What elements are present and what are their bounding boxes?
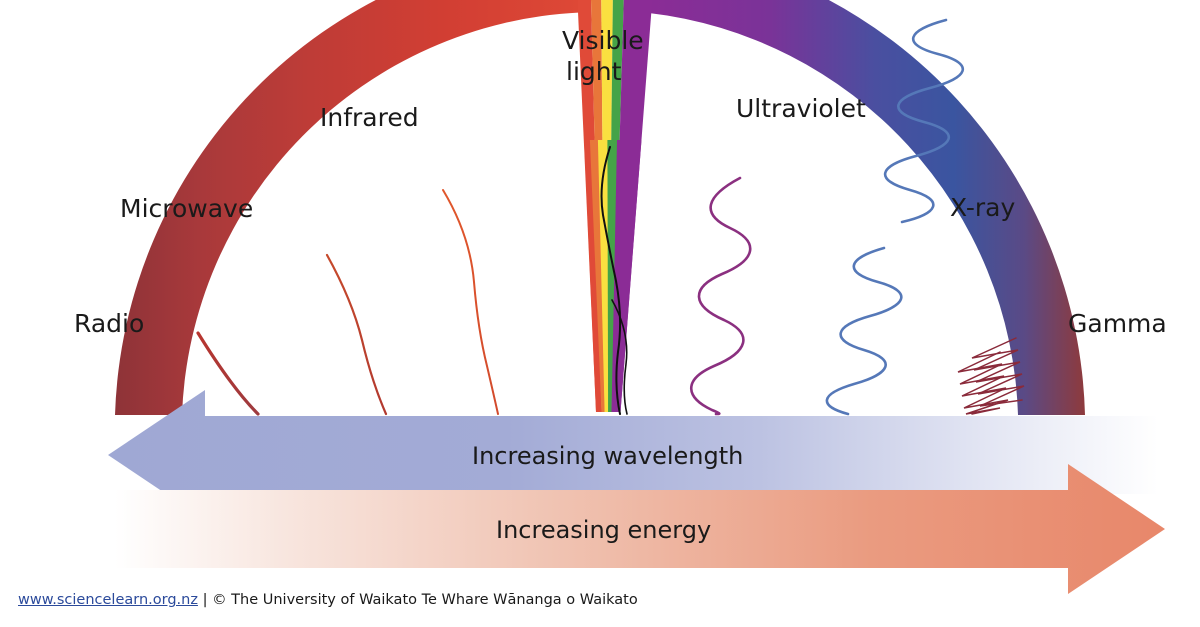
notch-left — [548, 148, 592, 412]
label-xray: X-ray — [950, 193, 1016, 222]
arc-segment-right — [648, 0, 1085, 415]
spectrum-figure: Increasing wavelength Increasing energy … — [0, 0, 1200, 627]
label-visible-light-line2: light — [566, 57, 622, 86]
label-infrared: Infrared — [320, 103, 419, 132]
wave-infrared-1 — [443, 190, 498, 414]
sciencelearn-link[interactable]: www.sciencelearn.org.nz — [18, 592, 198, 608]
label-ultraviolet: Ultraviolet — [736, 94, 866, 123]
energy-arrow-label: Increasing energy — [496, 516, 711, 544]
wave-radio — [198, 333, 258, 414]
footer-credit: © The University of Waikato Te Whare Wān… — [212, 592, 638, 608]
visible-light-wedge-lower — [584, 140, 641, 412]
footer-separator: | — [203, 592, 208, 608]
electromagnetic-spectrum-diagram: Increasing wavelength Increasing energy … — [0, 0, 1200, 627]
label-visible-light-line1: Visible — [562, 26, 644, 55]
label-radio: Radio — [74, 309, 144, 338]
wave-microwave — [327, 255, 386, 414]
wave-xray-inner — [827, 248, 901, 414]
wavelength-arrow-label: Increasing wavelength — [472, 442, 743, 470]
notch-right — [632, 148, 676, 412]
label-gamma: Gamma — [1068, 309, 1167, 338]
label-microwave: Microwave — [120, 194, 253, 223]
footer: www.sciencelearn.org.nz | © The Universi… — [18, 592, 638, 608]
wave-ultraviolet — [691, 178, 750, 414]
